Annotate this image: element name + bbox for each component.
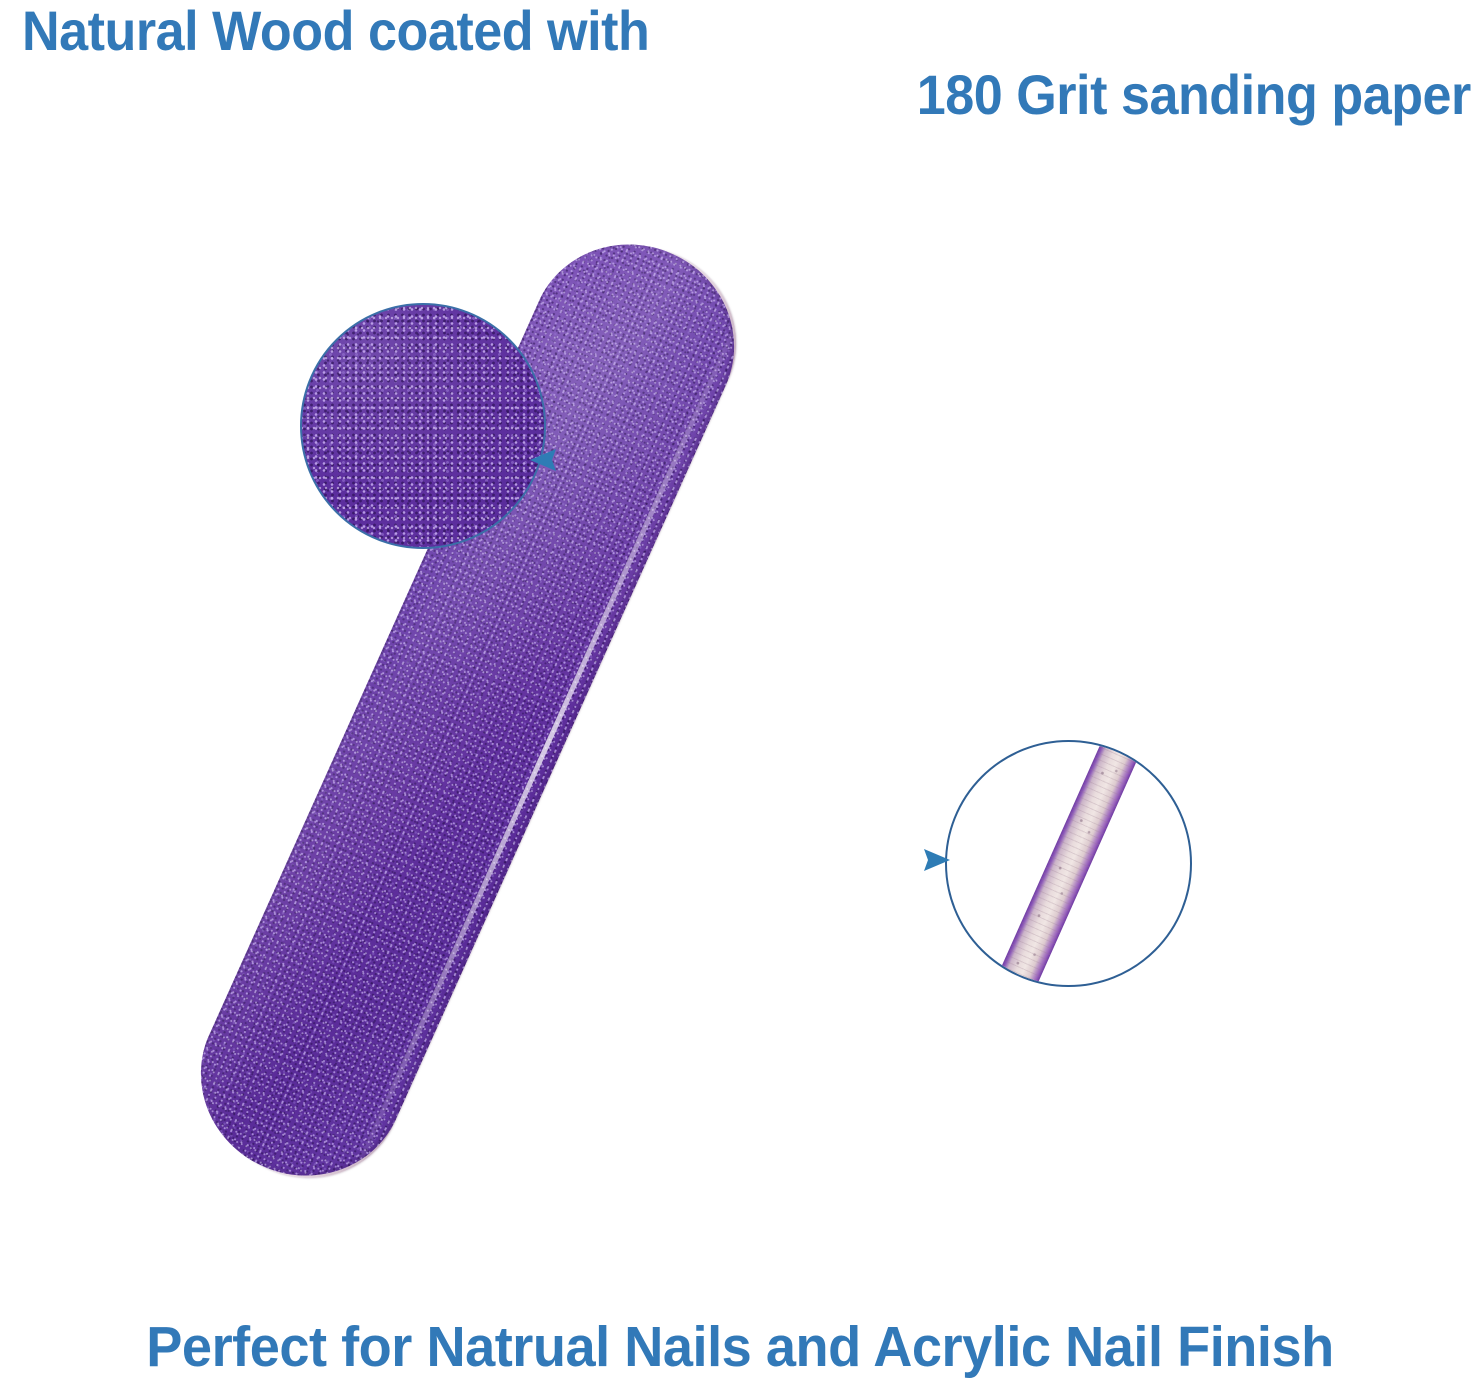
headline-line-1: Natural Wood coated with — [22, 0, 649, 63]
grit-texture-fill — [300, 303, 546, 549]
wood-core-edge-sliver — [965, 740, 1172, 987]
product-infographic: Natural Wood coated with 180 Grit sandin… — [0, 0, 1479, 1396]
callout-arrow-grit-icon — [530, 440, 830, 480]
callout-circle-grit-surface — [300, 303, 546, 549]
headline-line-2: 180 Grit sanding paper — [917, 62, 1471, 127]
callout-arrow-wood-edge-icon — [650, 840, 950, 880]
footer-tagline: Perfect for Natrual Nails and Acrylic Na… — [146, 1314, 1333, 1380]
callout-circle-wood-edge — [945, 740, 1192, 987]
wood-grain-texture — [965, 740, 1172, 987]
